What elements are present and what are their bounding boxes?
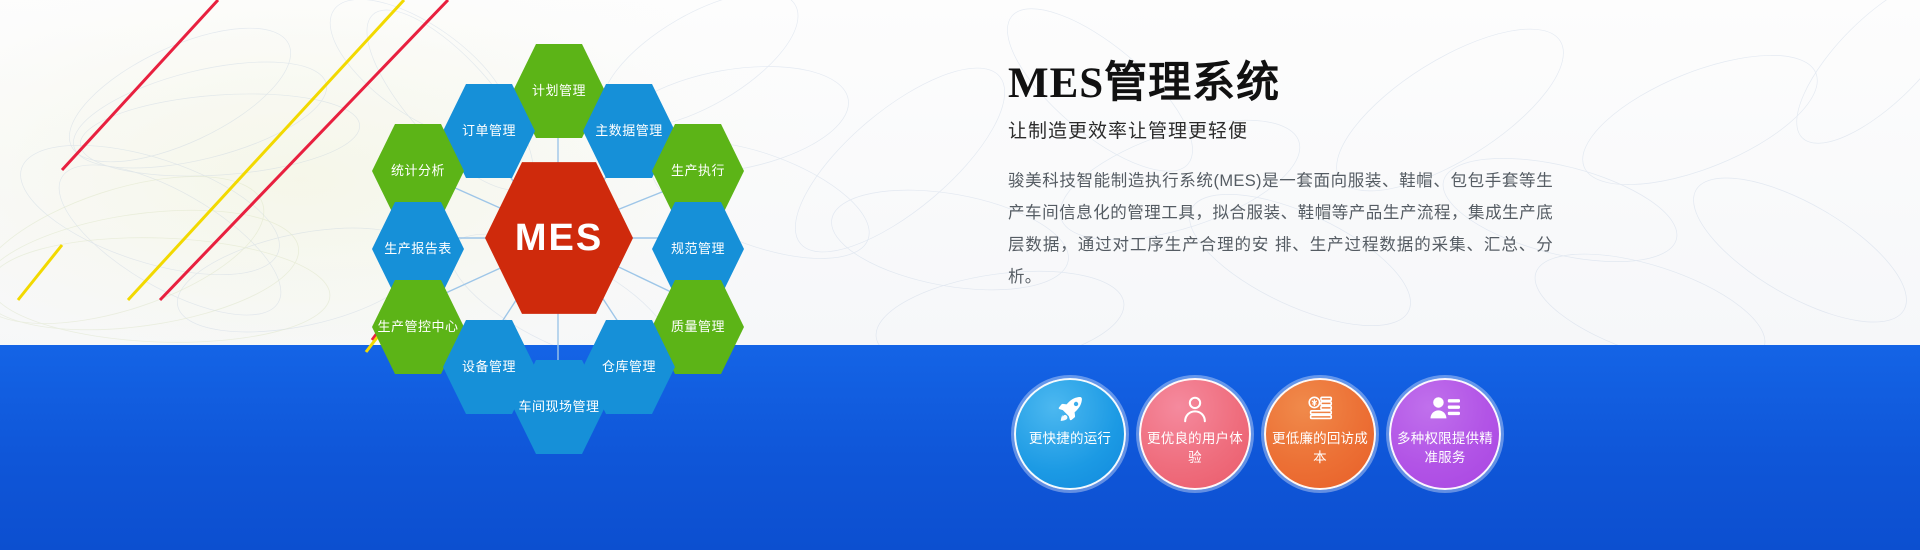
- feature-badge-list: 更快捷的运行 更优良的用户体验: [1014, 378, 1501, 490]
- hex-node-production-exec-label: 生产执行: [671, 163, 725, 179]
- user-list-icon: [1429, 392, 1461, 426]
- feature-badge-permissions-label: 多种权限提供精准服务: [1395, 429, 1495, 467]
- page-subtitle: 让制造更效率让管理更轻便: [1008, 116, 1588, 143]
- feature-badge-faster-operation[interactable]: 更快捷的运行: [1014, 378, 1126, 490]
- hex-node-equipment-label: 设备管理: [462, 359, 516, 375]
- copy-block: MES管理系统 让制造更效率让管理更轻便 骏美科技智能制造执行系统(MES)是一…: [1008, 58, 1588, 293]
- hex-node-master-data-label: 主数据管理: [595, 123, 663, 139]
- mes-hexagon-diagram: MES 计划管理 订单管理 主数据管理 生产执行 统计分析 规范管理 生产报告表…: [330, 10, 800, 430]
- description-paragraph: 骏美科技智能制造执行系统(MES)是一套面向服装、鞋帽、包包手套等生产车间信息化…: [1008, 165, 1553, 293]
- feature-badge-better-experience[interactable]: 更优良的用户体验: [1139, 378, 1251, 490]
- hex-node-statistics-label: 统计分析: [391, 163, 445, 179]
- hex-node-quality-mgmt-label: 质量管理: [671, 319, 725, 335]
- banner-background-bottom: [0, 345, 1920, 550]
- page-title: MES管理系统: [1008, 58, 1588, 110]
- hex-node-standard-mgmt-label: 规范管理: [671, 241, 725, 257]
- feature-badge-lower-cost[interactable]: 更低廉的回访成本: [1264, 378, 1376, 490]
- feature-badge-lower-cost-label: 更低廉的回访成本: [1270, 429, 1370, 467]
- hex-node-warehouse-label: 仓库管理: [602, 359, 656, 375]
- feature-badge-better-experience-label: 更优良的用户体验: [1145, 429, 1245, 467]
- banner: MES 计划管理 订单管理 主数据管理 生产执行 统计分析 规范管理 生产报告表…: [0, 0, 1920, 550]
- hex-node-production-report-label: 生产报告表: [384, 241, 452, 257]
- hex-node-planning-label: 计划管理: [532, 83, 586, 99]
- coins-icon: [1305, 392, 1335, 426]
- hex-node-order-label: 订单管理: [462, 123, 516, 139]
- feature-badge-faster-operation-label: 更快捷的运行: [1020, 429, 1120, 448]
- user-icon: [1180, 392, 1210, 426]
- hex-node-production-control-center-label: 生产管控中心: [377, 319, 458, 335]
- rocket-icon: [1055, 392, 1085, 426]
- hex-node-workshop-site-label: 车间现场管理: [518, 399, 599, 415]
- hex-node-center-label: MES: [515, 230, 603, 246]
- feature-badge-permissions[interactable]: 多种权限提供精准服务: [1389, 378, 1501, 490]
